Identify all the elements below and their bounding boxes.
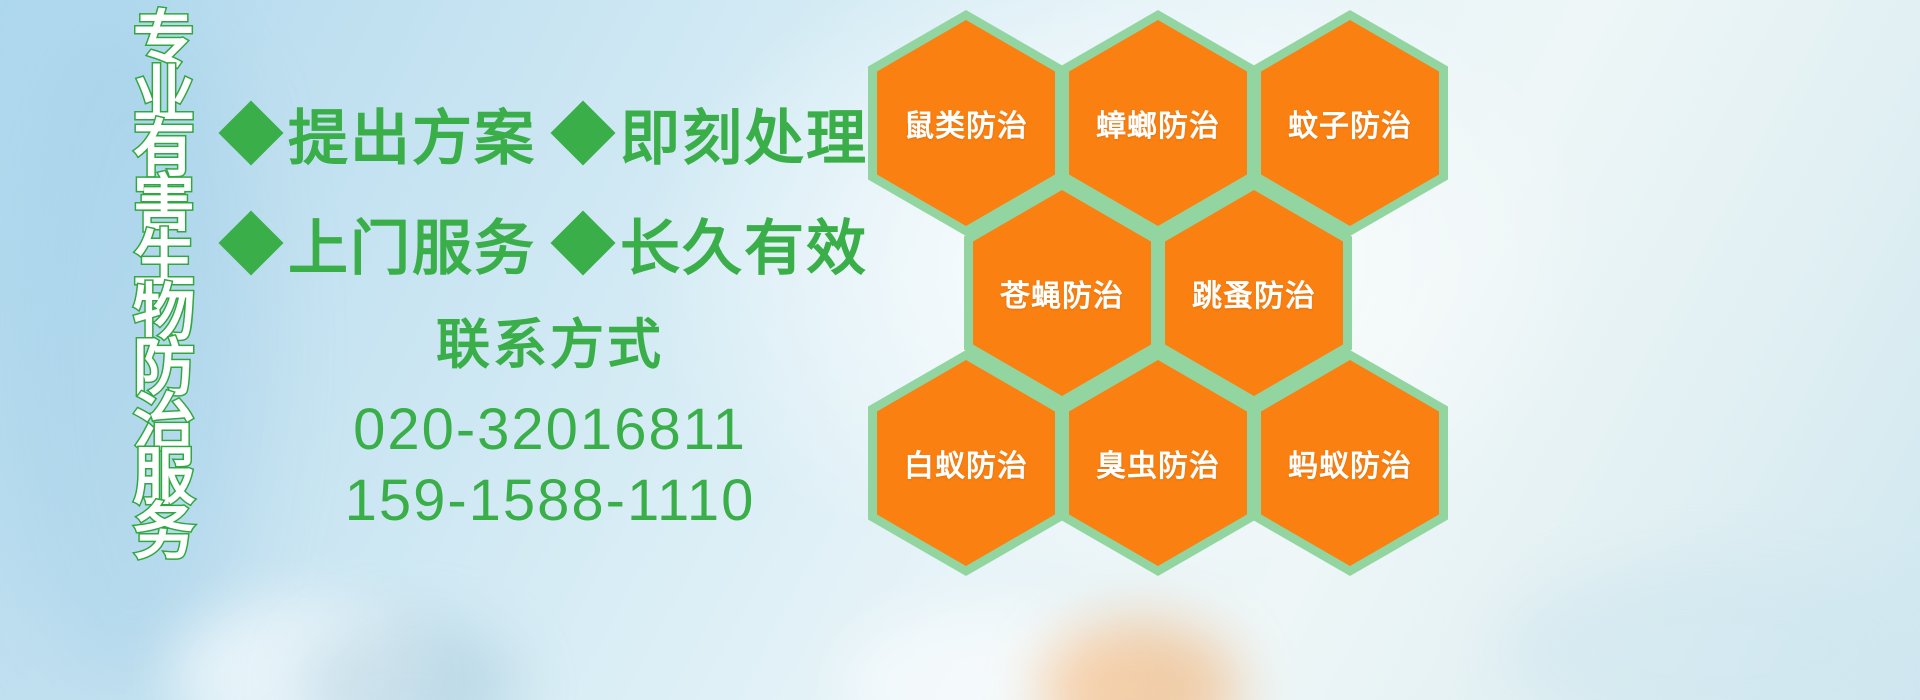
- hex-label: 蚊子防治: [1288, 101, 1412, 145]
- vertical-headline-char: 务: [133, 506, 195, 560]
- background-blur-3: [840, 610, 1140, 700]
- feature-label: 即刻处理: [620, 90, 868, 177]
- vertical-headline-char: 专: [133, 14, 195, 68]
- diamond-icon: [550, 210, 615, 275]
- hex-label: 鼠类防治: [904, 101, 1028, 145]
- diamond-icon: [218, 100, 283, 165]
- background-blur-1: [170, 600, 430, 700]
- feature-item-long-lasting: 长久有效: [560, 200, 868, 287]
- vertical-headline-char: 害: [133, 178, 195, 232]
- feature-label: 上门服务: [288, 200, 536, 287]
- vertical-headline-char: 防: [133, 342, 195, 396]
- hex-label: 白蚁防治: [904, 441, 1028, 485]
- feature-item-propose-plan: 提出方案: [228, 90, 536, 177]
- diamond-icon: [218, 210, 283, 275]
- hex-label: 跳蚤防治: [1192, 271, 1316, 315]
- diamond-icon: [550, 100, 615, 165]
- feature-list: 提出方案 即刻处理 上门服务 长久有效: [228, 78, 868, 298]
- background-blur-5: [1500, 560, 1920, 700]
- contact-phone-mobile[interactable]: 159-1588-1110: [230, 466, 870, 537]
- promo-banner: 专 业 有 害 生 物 防 治 服 务 提出方案 即刻处理 上门服务: [0, 0, 1920, 700]
- hex-label: 蚂蚁防治: [1288, 441, 1412, 485]
- contact-block: 联系方式 020-32016811 159-1588-1110: [230, 300, 870, 537]
- feature-label: 长久有效: [620, 200, 868, 287]
- feature-row: 提出方案 即刻处理: [228, 78, 868, 188]
- background-blur-4: [1040, 620, 1240, 700]
- service-hex-grid: 鼠类防治 蟑螂防治 蚊子防治 苍蝇防治 跳蚤防治 白蚁防治 臭虫防治: [862, 0, 1462, 580]
- contact-phone-landline[interactable]: 020-32016811: [230, 395, 870, 466]
- background-blur-2: [300, 620, 520, 700]
- hex-label: 臭虫防治: [1096, 441, 1220, 485]
- hex-label: 苍蝇防治: [1000, 271, 1124, 315]
- feature-row: 上门服务 长久有效: [228, 188, 868, 298]
- contact-title: 联系方式: [230, 300, 870, 379]
- feature-item-door-to-door: 上门服务: [228, 200, 536, 287]
- feature-label: 提出方案: [288, 90, 536, 177]
- hex-label: 蟑螂防治: [1096, 101, 1220, 145]
- vertical-headline: 专 业 有 害 生 物 防 治 服 务: [108, 14, 220, 560]
- feature-item-immediate-handling: 即刻处理: [560, 90, 868, 177]
